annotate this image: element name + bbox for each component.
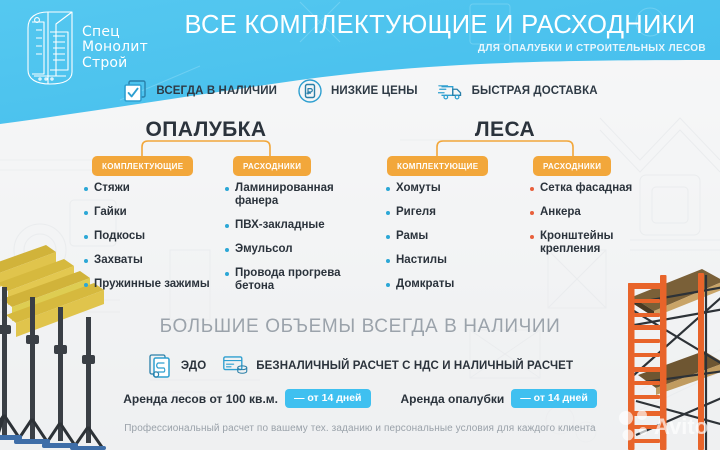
- feature-label: БЫСТРАЯ ДОСТАВКА: [472, 85, 598, 97]
- bullet-icon: [225, 248, 229, 252]
- bullet-icon: [386, 283, 390, 287]
- category-headers: ОПАЛУБКА КОМПЛЕКТУЮЩИЕ РАСХОДНИКИ ЛЕСА К…: [0, 118, 720, 180]
- list-item: Эмульсол: [225, 243, 365, 256]
- rent-item-formwork: Аренда опалубки — от 14 дней: [401, 389, 597, 408]
- bullet-icon: [84, 283, 88, 287]
- list-item: Кронштейны крепления: [530, 230, 650, 256]
- rent-term-badge[interactable]: — от 14 дней: [285, 389, 371, 408]
- payment-item-edo: ЭДО: [147, 352, 206, 379]
- bullet-icon: [386, 211, 390, 215]
- promo-banner: Спец Монолит Строй ВСЕ КОМПЛЕКТУЮЩИЕ И Р…: [0, 0, 720, 450]
- bullet-icon: [84, 211, 88, 215]
- list-item-label: Настилы: [396, 254, 447, 267]
- list-item-label: Домкраты: [396, 278, 454, 291]
- category-pill-consumables[interactable]: РАСХОДНИКИ: [233, 156, 311, 176]
- list-item-label: Ригеля: [396, 206, 436, 219]
- delivery-truck-icon: [438, 78, 464, 104]
- list-item: Домкраты: [386, 278, 516, 291]
- list-item-label: Провода прогрева бетона: [235, 267, 365, 293]
- list-item: Подкосы: [84, 230, 224, 243]
- feature-label: ВСЕГДА В НАЛИЧИИ: [156, 85, 277, 97]
- list-item-label: Подкосы: [94, 230, 145, 243]
- list-item: Пружинные зажимы: [84, 278, 224, 291]
- list-item-label: Ламинированная фанера: [235, 182, 365, 208]
- bullet-icon: [530, 187, 534, 191]
- bullet-icon: [530, 235, 534, 239]
- footer-note: Профессиональный расчет по вашему тех. з…: [0, 423, 720, 434]
- rent-label: Аренда опалубки: [401, 392, 505, 406]
- list-item: Анкера: [530, 206, 650, 219]
- list-item: Хомуты: [386, 182, 516, 195]
- list-column-lesa-components: Хомуты Ригеля Рамы Настилы Домкраты: [386, 182, 516, 302]
- list-item-label: Рамы: [396, 230, 428, 243]
- list-item: Рамы: [386, 230, 516, 243]
- svg-text:Avito: Avito: [654, 414, 708, 439]
- list-item: Захваты: [84, 254, 224, 267]
- brand-line-1: Спец: [82, 25, 148, 41]
- building-crane-logo-icon: [22, 10, 76, 86]
- bullet-icon: [386, 235, 390, 239]
- list-column-lesa-consumables: Сетка фасадная Анкера Кронштейны креплен…: [530, 182, 650, 267]
- list-item: Сетка фасадная: [530, 182, 650, 195]
- page-title: ВСЕ КОМПЛЕКТУЮЩИЕ И РАСХОДНИКИ: [170, 10, 710, 40]
- bullet-icon: [225, 187, 229, 191]
- bullet-icon: [84, 187, 88, 191]
- bullet-icon: [84, 259, 88, 263]
- list-item-label: Захваты: [94, 254, 143, 267]
- payment-label: ЭДО: [181, 360, 206, 372]
- list-item-label: Кронштейны крепления: [540, 230, 650, 256]
- page-subtitle: ДЛЯ ОПАЛУБКИ И СТРОИТЕЛЬНЫХ ЛЕСОВ: [170, 43, 710, 54]
- bullet-icon: [530, 211, 534, 215]
- avito-watermark: Avito: [618, 406, 718, 446]
- brand-line-3: Строй: [82, 56, 148, 72]
- category-pill-consumables[interactable]: РАСХОДНИКИ: [533, 156, 611, 176]
- brand-line-2: Монолит: [82, 40, 148, 56]
- feature-label: НИЗКИЕ ЦЕНЫ: [331, 85, 418, 97]
- list-item-label: Стяжи: [94, 182, 130, 195]
- payment-row: ЭДО БЕЗНАЛИЧНЫЙ РАСЧЕТ С НДС И НАЛИЧНЫЙ …: [0, 352, 720, 379]
- rent-row: Аренда лесов от 100 кв.м. — от 14 дней А…: [0, 389, 720, 408]
- list-item: Стяжи: [84, 182, 224, 195]
- brand-name: Спец Монолит Строй: [82, 25, 148, 72]
- list-item-label: Анкера: [540, 206, 581, 219]
- list-column-opalubka-components: Стяжи Гайки Подкосы Захваты Пружинные за…: [84, 182, 224, 302]
- edo-document-icon: [147, 352, 174, 379]
- bullet-icon: [225, 272, 229, 276]
- price-tag-ruble-icon: [297, 78, 323, 104]
- feature-item-price: НИЗКИЕ ЦЕНЫ: [297, 78, 418, 104]
- bullet-icon: [386, 187, 390, 191]
- list-item: Гайки: [84, 206, 224, 219]
- invoice-coins-icon: [222, 352, 249, 379]
- feature-item-stock: ВСЕГДА В НАЛИЧИИ: [122, 78, 277, 104]
- bullet-icon: [386, 259, 390, 263]
- list-item: Провода прогрева бетона: [225, 267, 365, 293]
- payment-item-invoice: БЕЗНАЛИЧНЫЙ РАСЧЕТ С НДС И НАЛИЧНЫЙ РАСЧ…: [222, 352, 573, 379]
- list-item: Ламинированная фанера: [225, 182, 365, 208]
- feature-list: ВСЕГДА В НАЛИЧИИ НИЗКИЕ ЦЕНЫ БЫСТРАЯ ДОС…: [0, 78, 720, 104]
- list-item-label: Сетка фасадная: [540, 182, 632, 195]
- list-column-opalubka-consumables: Ламинированная фанера ПВХ-закладные Эмул…: [225, 182, 365, 304]
- list-item-label: Хомуты: [396, 182, 441, 195]
- list-item-label: ПВХ-закладные: [235, 219, 325, 232]
- list-item: Настилы: [386, 254, 516, 267]
- list-item-label: Гайки: [94, 206, 127, 219]
- headline-block: ВСЕ КОМПЛЕКТУЮЩИЕ И РАСХОДНИКИ ДЛЯ ОПАЛУ…: [170, 10, 710, 54]
- bullet-icon: [225, 224, 229, 228]
- list-item-label: Пружинные зажимы: [94, 278, 210, 291]
- volumes-title: БОЛЬШИЕ ОБЪЕМЫ ВСЕГДА В НАЛИЧИИ: [0, 316, 720, 338]
- payment-label: БЕЗНАЛИЧНЫЙ РАСЧЕТ С НДС И НАЛИЧНЫЙ РАСЧ…: [256, 360, 573, 372]
- list-item: Ригеля: [386, 206, 516, 219]
- category-pill-components[interactable]: КОМПЛЕКТУЮЩИЕ: [387, 156, 488, 176]
- product-lists: Стяжи Гайки Подкосы Захваты Пружинные за…: [0, 182, 720, 310]
- checkbox-stack-icon: [122, 78, 148, 104]
- bullet-icon: [84, 235, 88, 239]
- list-item-label: Эмульсол: [235, 243, 293, 256]
- brand-logo[interactable]: Спец Монолит Строй: [22, 8, 162, 88]
- feature-item-delivery: БЫСТРАЯ ДОСТАВКА: [438, 78, 598, 104]
- rent-term-badge[interactable]: — от 14 дней: [511, 389, 597, 408]
- list-item: ПВХ-закладные: [225, 219, 365, 232]
- rent-item-scaffolding: Аренда лесов от 100 кв.м. — от 14 дней: [123, 389, 370, 408]
- rent-label: Аренда лесов от 100 кв.м.: [123, 392, 278, 406]
- category-pill-components[interactable]: КОМПЛЕКТУЮЩИЕ: [92, 156, 193, 176]
